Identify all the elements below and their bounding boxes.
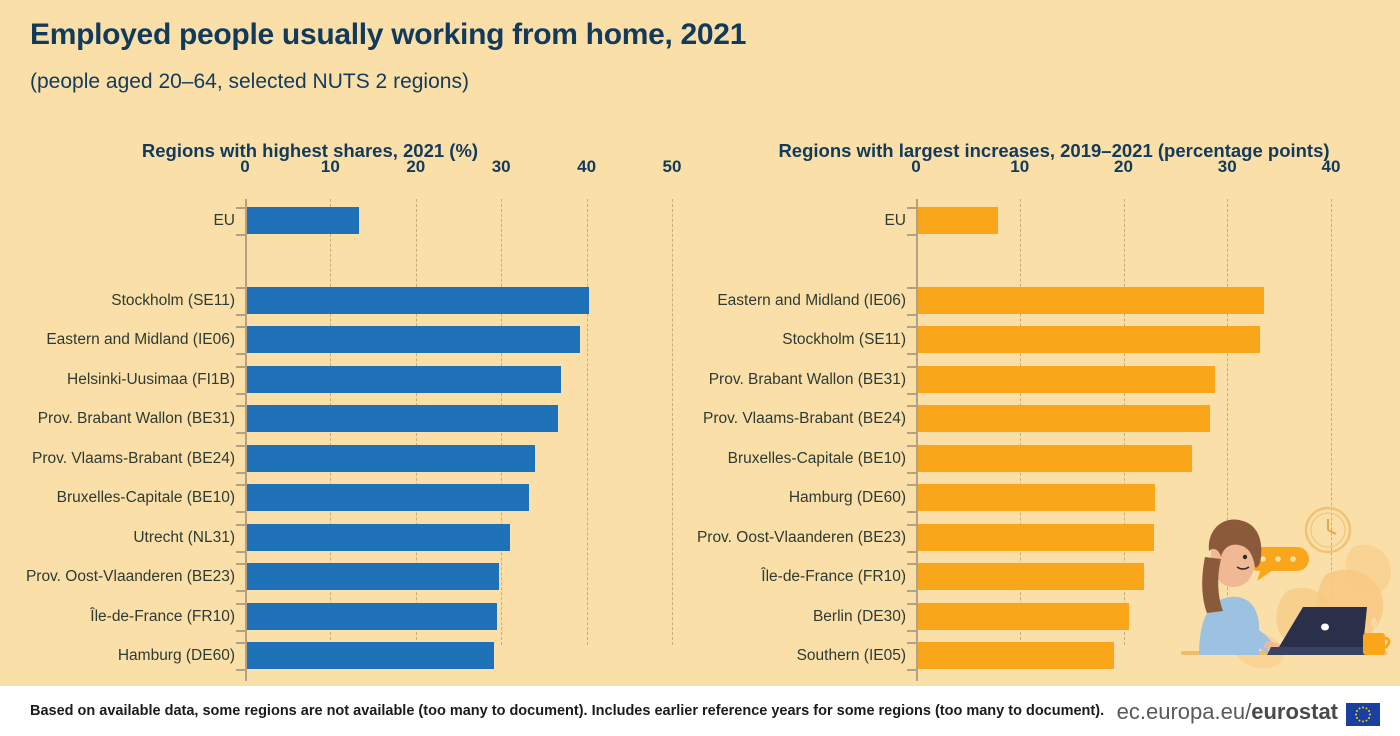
bar-eu: EU	[247, 207, 359, 234]
axis-tick-cat-3-1	[236, 432, 245, 434]
bar-cat-6: Utrecht (NL31)	[247, 524, 510, 551]
category-label-cat-0: Stockholm (SE11)	[0, 287, 235, 314]
axis-tick-eu-1	[236, 234, 245, 236]
axis-tick-cat-4-1	[236, 472, 245, 474]
brand-name: eurostat	[1251, 699, 1338, 724]
category-label-cat-6: Utrecht (NL31)	[0, 524, 235, 551]
category-label-cat-5: Bruxelles-Capitale (BE10)	[0, 484, 235, 511]
bar-cat-4: Bruxelles-Capitale (BE10)	[918, 445, 1192, 472]
x-tick-label-50: 50	[663, 157, 682, 177]
axis-tick-cat-4-0	[236, 445, 245, 447]
axis-tick-cat-1-0	[907, 326, 916, 328]
axis-tick-cat-2-0	[236, 366, 245, 368]
page-subtitle: (people aged 20–64, selected NUTS 2 regi…	[30, 70, 469, 94]
axis-tick-cat-6-0	[907, 524, 916, 526]
category-label-cat-0: Eastern and Midland (IE06)	[486, 287, 906, 314]
axis-tick-eu-0	[236, 207, 245, 209]
category-label-cat-2: Helsinki-Uusimaa (FI1B)	[0, 366, 235, 393]
axis-tick-cat-0-1	[236, 314, 245, 316]
axis-tick-cat-7-1	[236, 590, 245, 592]
axis-tick-cat-5-0	[907, 484, 916, 486]
bar-cat-6: Prov. Oost-Vlaanderen (BE23)	[918, 524, 1154, 551]
category-label-cat-9: Hamburg (DE60)	[0, 642, 235, 669]
axis-tick-eu-0	[907, 207, 916, 209]
axis-tick-cat-4-1	[907, 472, 916, 474]
axis-tick-cat-3-0	[236, 405, 245, 407]
axis-tick-cat-8-1	[907, 630, 916, 632]
axis-tick-cat-3-0	[907, 405, 916, 407]
footnote-text: Based on available data, some regions ar…	[30, 703, 1104, 719]
axis-tick-cat-6-0	[236, 524, 245, 526]
infographic-panel: Employed people usually working from hom…	[0, 0, 1400, 686]
bar-cat-8: Berlin (DE30)	[918, 603, 1129, 630]
axis-tick-cat-1-0	[236, 326, 245, 328]
footer-bar: Based on available data, some regions ar…	[0, 686, 1400, 736]
bar-cat-2: Prov. Brabant Wallon (BE31)	[918, 366, 1215, 393]
category-label-cat-1: Stockholm (SE11)	[486, 326, 906, 353]
bar-cat-7: Île-de-France (FR10)	[918, 563, 1144, 590]
x-axis-ticks-highest-shares: 01020304050	[245, 157, 672, 181]
axis-tick-cat-8-0	[236, 603, 245, 605]
axis-tick-eu-1	[907, 234, 916, 236]
plot-area-largest-increases: 010203040 EUEastern and Midland (IE06)St…	[916, 185, 1331, 645]
axis-tick-cat-7-1	[907, 590, 916, 592]
axis-tick-cat-0-0	[236, 287, 245, 289]
axis-tick-cat-9-0	[236, 642, 245, 644]
bar-cat-9: Southern (IE05)	[918, 642, 1114, 669]
x-tick-label-20: 20	[1114, 157, 1133, 177]
axis-tick-cat-4-0	[907, 445, 916, 447]
page-title: Employed people usually working from hom…	[30, 18, 746, 52]
category-label-cat-5: Hamburg (DE60)	[486, 484, 906, 511]
bar-cat-8: Île-de-France (FR10)	[247, 603, 497, 630]
bar-cat-3: Prov. Vlaams-Brabant (BE24)	[918, 405, 1210, 432]
axis-tick-cat-8-0	[907, 603, 916, 605]
brand-prefix: ec.europa.eu/	[1117, 699, 1252, 724]
axis-tick-cat-9-1	[236, 669, 245, 671]
axis-tick-cat-2-1	[907, 393, 916, 395]
axis-tick-cat-6-1	[907, 551, 916, 553]
category-label-cat-7: Prov. Oost-Vlaanderen (BE23)	[0, 563, 235, 590]
gridline-30	[1227, 199, 1228, 645]
bar-cat-0: Eastern and Midland (IE06)	[918, 287, 1264, 314]
axis-tick-cat-2-0	[907, 366, 916, 368]
axis-tick-cat-2-1	[236, 393, 245, 395]
category-label-cat-7: Île-de-France (FR10)	[486, 563, 906, 590]
axis-tick-cat-7-0	[236, 563, 245, 565]
bar-cat-7: Prov. Oost-Vlaanderen (BE23)	[247, 563, 499, 590]
x-tick-label-40: 40	[577, 157, 596, 177]
axis-tick-cat-3-1	[907, 432, 916, 434]
chart-largest-increases: Regions with largest increases, 2019–202…	[700, 140, 1400, 660]
bar-eu: EU	[918, 207, 998, 234]
x-tick-label-30: 30	[492, 157, 511, 177]
axis-tick-cat-5-0	[236, 484, 245, 486]
axis-tick-cat-0-1	[907, 314, 916, 316]
axis-tick-cat-5-1	[236, 511, 245, 513]
category-label-eu: EU	[486, 207, 906, 234]
category-label-cat-4: Prov. Vlaams-Brabant (BE24)	[0, 445, 235, 472]
category-label-cat-9: Southern (IE05)	[486, 642, 906, 669]
axis-tick-cat-5-1	[907, 511, 916, 513]
x-tick-label-0: 0	[911, 157, 920, 177]
x-tick-label-10: 10	[321, 157, 340, 177]
bar-cat-5: Hamburg (DE60)	[918, 484, 1155, 511]
category-label-cat-6: Prov. Oost-Vlaanderen (BE23)	[486, 524, 906, 551]
x-tick-label-10: 10	[1010, 157, 1029, 177]
category-label-cat-4: Bruxelles-Capitale (BE10)	[486, 445, 906, 472]
eurostat-brand: ec.europa.eu/eurostat	[1117, 699, 1338, 725]
x-tick-label-0: 0	[240, 157, 249, 177]
category-label-cat-3: Prov. Brabant Wallon (BE31)	[0, 405, 235, 432]
category-label-cat-1: Eastern and Midland (IE06)	[0, 326, 235, 353]
gridline-40	[1331, 199, 1332, 645]
axis-tick-cat-6-1	[236, 551, 245, 553]
axis-tick-cat-9-1	[907, 669, 916, 671]
bar-cat-9: Hamburg (DE60)	[247, 642, 494, 669]
axis-tick-cat-8-1	[236, 630, 245, 632]
eu-flag-icon	[1346, 703, 1380, 726]
category-label-cat-8: Île-de-France (FR10)	[0, 603, 235, 630]
category-label-eu: EU	[0, 207, 235, 234]
axis-tick-cat-7-0	[907, 563, 916, 565]
category-label-cat-8: Berlin (DE30)	[486, 603, 906, 630]
x-tick-label-20: 20	[406, 157, 425, 177]
axis-tick-cat-1-1	[236, 353, 245, 355]
axis-tick-cat-0-0	[907, 287, 916, 289]
x-axis-ticks-largest-increases: 010203040	[916, 157, 1331, 181]
axis-tick-cat-9-0	[907, 642, 916, 644]
category-label-cat-2: Prov. Brabant Wallon (BE31)	[486, 366, 906, 393]
bar-cat-1: Stockholm (SE11)	[918, 326, 1260, 353]
axis-tick-cat-1-1	[907, 353, 916, 355]
x-tick-label-30: 30	[1218, 157, 1237, 177]
x-tick-label-40: 40	[1322, 157, 1341, 177]
category-label-cat-3: Prov. Vlaams-Brabant (BE24)	[486, 405, 906, 432]
